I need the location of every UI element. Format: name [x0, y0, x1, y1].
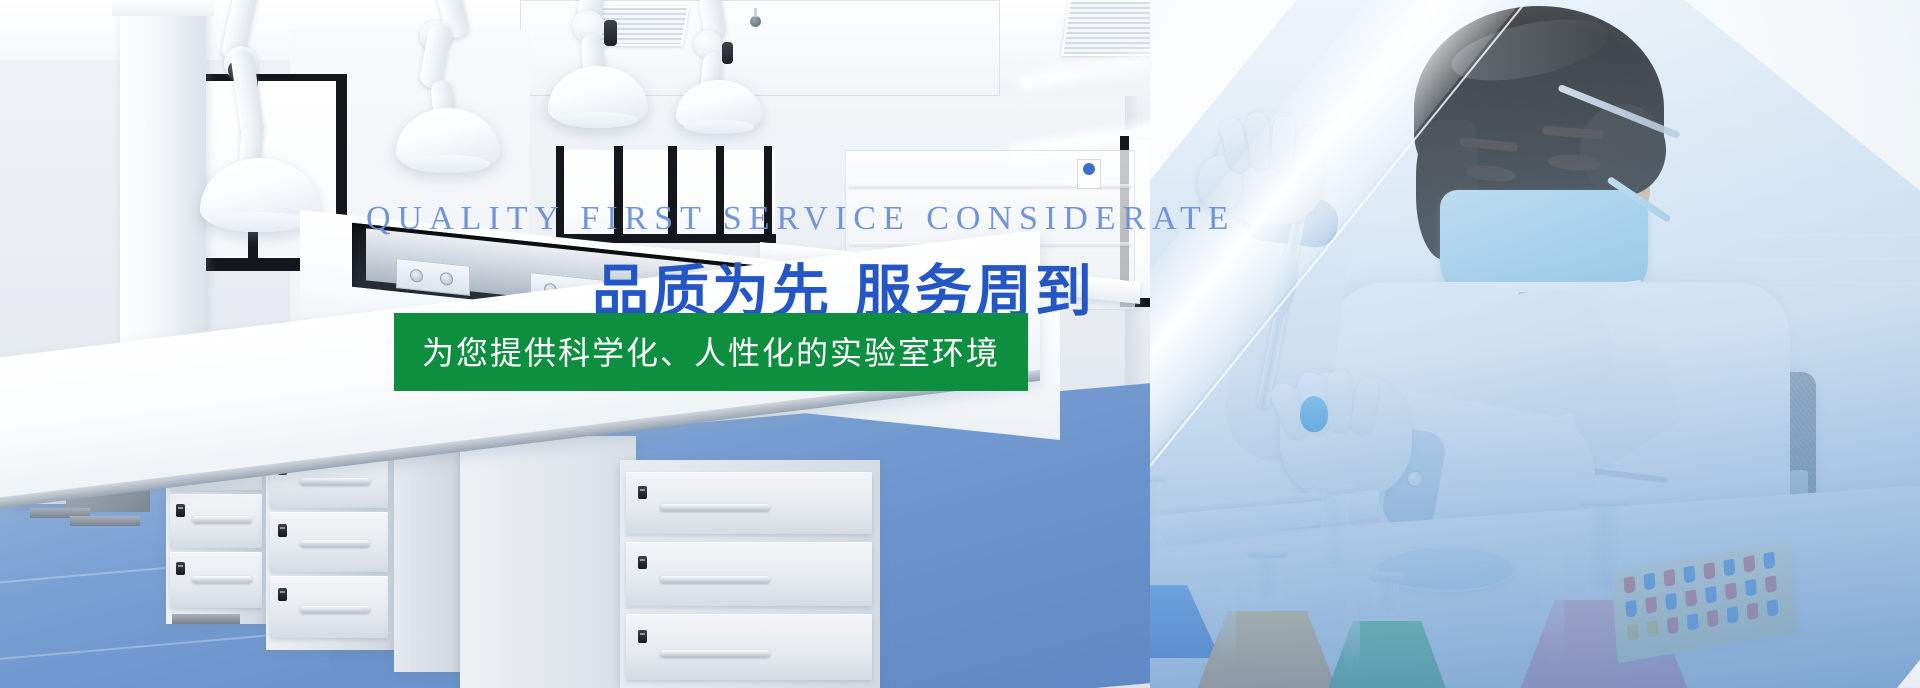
- hood-rim: [684, 120, 754, 134]
- drawer-handle: [192, 516, 252, 523]
- shelf-label-icon: [1078, 160, 1100, 188]
- hood-rim: [558, 112, 638, 128]
- window-frame: [186, 74, 346, 81]
- drawer-handle: [660, 504, 770, 511]
- sprinkler-head-icon: [750, 16, 761, 27]
- cabinet-foot: [70, 516, 140, 526]
- gray-cabinet-drawer: [626, 542, 872, 606]
- socket-hole: [440, 272, 453, 286]
- arm-knob-icon: [604, 20, 617, 46]
- drawer-handle: [660, 650, 770, 657]
- gray-cabinet-drawer: [626, 614, 872, 680]
- column-cap: [112, 0, 214, 16]
- socket-hole: [410, 269, 423, 283]
- tagline-english: QUALITY FIRST SERVICE CONSIDERATE: [366, 200, 1236, 238]
- drawer-handle: [192, 576, 252, 583]
- cabinet-foot: [172, 614, 240, 624]
- lab-technician-photo: [1150, 0, 1920, 688]
- hood-rim: [406, 155, 490, 173]
- cabinet-lock-icon: [278, 588, 287, 601]
- arm-knob-icon: [722, 42, 733, 64]
- hero-banner: QUALITY FIRST SERVICE CONSIDERATE 品质为先 服…: [0, 0, 1920, 688]
- cabinet-lock-icon: [176, 504, 185, 517]
- drawer-handle: [300, 478, 370, 485]
- subtitle-green-bar: 为您提供科学化、人性化的实验室环境: [394, 313, 1028, 391]
- drawer-handle: [300, 606, 370, 613]
- cabinet-lock-icon: [638, 556, 647, 569]
- cabinet-lock-icon: [638, 630, 647, 643]
- cabinet-lock-icon: [176, 562, 185, 575]
- cabinet-lock-icon: [278, 524, 287, 537]
- diagonal-blue-overlay: [1150, 0, 1920, 688]
- cabinet-lock-icon: [638, 486, 647, 499]
- drawer-handle: [660, 576, 770, 583]
- gray-cabinet: [394, 452, 466, 672]
- hood-rim: [212, 212, 308, 232]
- subtitle-chinese: 为您提供科学化、人性化的实验室环境: [422, 334, 1000, 372]
- gray-cabinet: [460, 436, 636, 688]
- gray-cabinet-drawer: [626, 472, 872, 534]
- drawer-handle: [300, 540, 370, 547]
